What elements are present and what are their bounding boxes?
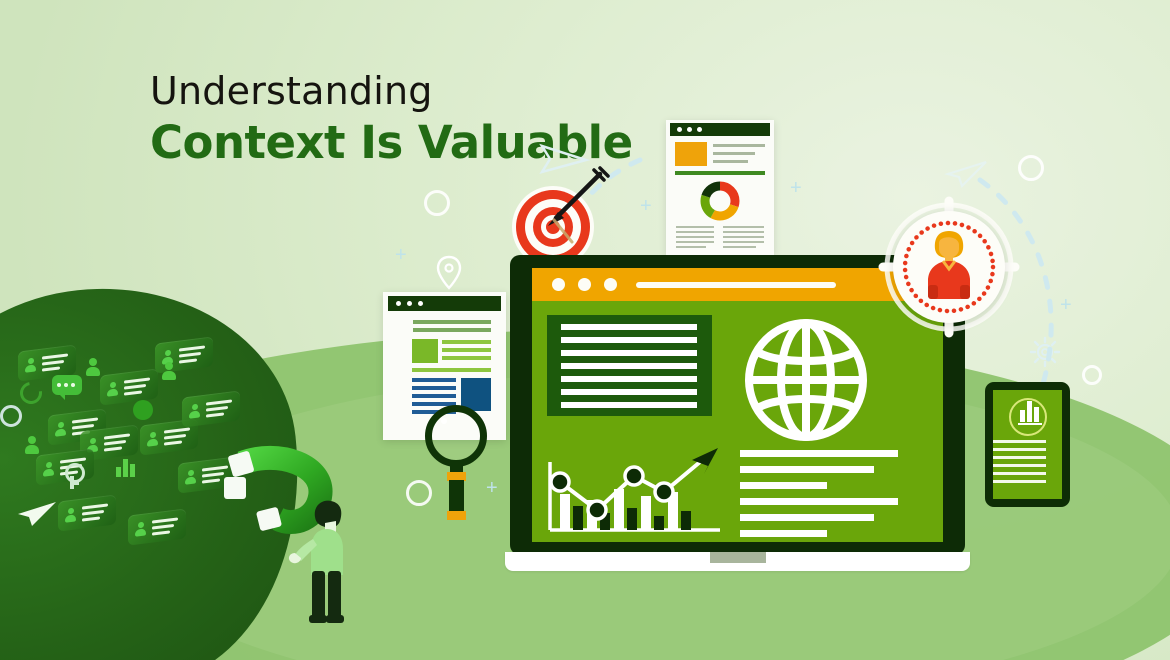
- paper-plane-icon: [18, 500, 58, 528]
- list-item: [58, 494, 116, 531]
- avatar: [65, 507, 76, 522]
- arrow-icon: [534, 168, 610, 244]
- report-browser-card[interactable]: [666, 120, 774, 255]
- list-item: [128, 508, 186, 545]
- heading-line-1: Understanding: [150, 72, 710, 110]
- key-icon: [64, 463, 80, 489]
- plus-mark-icon: +: [790, 178, 802, 198]
- avatar: [107, 381, 118, 396]
- laptop-trackpad-notch: [710, 552, 766, 563]
- card-titlebar: [388, 296, 501, 311]
- avatar: [25, 357, 36, 372]
- avatar: [147, 431, 158, 446]
- plus-mark-icon: +: [395, 245, 407, 265]
- avatar: [43, 461, 54, 476]
- decorative-circle: [0, 405, 22, 427]
- window-dot: [604, 278, 617, 291]
- play-dot-icon: [133, 400, 153, 420]
- body-text-lines: [740, 450, 898, 542]
- globe-icon: [744, 318, 868, 442]
- chat-bubble-icon: [52, 375, 82, 395]
- decorative-circle: [424, 190, 450, 216]
- bar-chart-icon: [116, 455, 138, 477]
- person-avatar-icon: [923, 229, 975, 301]
- url-bar[interactable]: [636, 282, 836, 288]
- card-image-block: [675, 142, 707, 166]
- window-dot: [552, 278, 565, 291]
- card-image-block: [412, 339, 438, 363]
- person-with-magnet: [305, 495, 351, 623]
- bar-chart-icon: [1009, 398, 1047, 436]
- avatar: [55, 421, 66, 436]
- location-pin-icon: [436, 255, 462, 289]
- text-content-panel: [547, 315, 712, 416]
- magnifying-glass-icon: [425, 405, 498, 523]
- card-titlebar: [670, 123, 770, 136]
- analytics-chart: [542, 438, 722, 536]
- donut-chart: [699, 180, 741, 222]
- card-rule: [675, 171, 765, 175]
- illustration-canvas: Understanding Context Is Valuable + + + …: [0, 0, 1170, 660]
- user-icon: [25, 436, 39, 454]
- avatar: [135, 521, 146, 536]
- list-item: [100, 368, 158, 405]
- user-focus-avatar[interactable]: [885, 203, 1013, 331]
- list-item: [182, 390, 240, 427]
- window-dot: [578, 278, 591, 291]
- user-icon: [162, 362, 176, 380]
- mobile-analytics-device[interactable]: [985, 382, 1070, 507]
- user-icon: [86, 358, 100, 376]
- refresh-icon: [16, 378, 47, 409]
- avatar: [185, 469, 196, 484]
- avatar: [189, 403, 200, 418]
